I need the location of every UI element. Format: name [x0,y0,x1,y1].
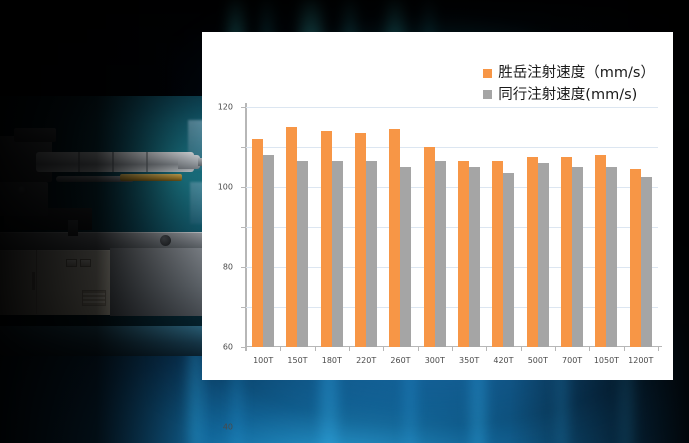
x-axis-label: 220T [356,356,376,365]
bar-series-1[interactable] [469,167,480,347]
x-axis-tick [658,347,659,351]
rail-support [68,220,78,236]
y-axis-label: 100 [218,183,233,192]
legend-swatch-icon-1 [483,90,492,99]
x-axis-tick [555,347,556,351]
bar-group: 260T [383,107,417,347]
x-axis-label: 420T [493,356,513,365]
x-axis-tick [452,347,453,351]
chart-panel: 胜岳注射速度（mm/s） 同行注射速度(mm/s) 02040608010012… [202,32,673,380]
bar-series-1[interactable] [297,161,308,347]
x-axis-label: 1200T [628,356,653,365]
motor-port [18,186,27,195]
bar-series-1[interactable] [435,161,446,347]
bar-group: 220T [349,107,383,347]
bar-series-0[interactable] [595,155,606,347]
x-axis-label: 180T [322,356,342,365]
bar-group: 1050T [589,107,623,347]
bar-series-0[interactable] [252,139,263,347]
bar-series-1[interactable] [572,167,583,347]
bar-series-0[interactable] [321,131,332,347]
x-axis-tick [246,347,247,351]
guard-knob [160,235,171,246]
y-axis-label: 80 [223,263,233,272]
bar-series-0[interactable] [355,133,366,347]
barrel-band [112,152,114,172]
legend-item-0[interactable]: 胜岳注射速度（mm/s） [483,66,655,81]
x-axis-tick [315,347,316,351]
y-axis-label: 40 [223,423,233,432]
legend-label-0: 胜岳注射速度（mm/s） [498,66,655,81]
bar-series-0[interactable] [527,157,538,347]
x-axis-tick [486,347,487,351]
bar-series-1[interactable] [606,167,617,347]
bar-group: 420T [486,107,520,347]
slide-canvas: 胜岳注射速度（mm/s） 同行注射速度(mm/s) 02040608010012… [0,0,689,443]
injection-barrel [36,152,194,172]
bar-groups: 100T150T180T220T260T300T350T420T500T700T… [246,107,658,347]
x-axis-tick [280,347,281,351]
floor [0,326,212,356]
x-axis-tick [418,347,419,351]
x-axis-label: 350T [459,356,479,365]
bar-group: 500T [521,107,555,347]
plot-area: 020406080100120 100T150T180T220T260T300T… [246,107,658,347]
x-axis-tick [383,347,384,351]
legend-item-1[interactable]: 同行注射速度(mm/s) [483,88,637,103]
bar-group: 180T [315,107,349,347]
legend-swatch-icon-0 [483,69,492,78]
injection-nozzle [178,155,200,169]
x-axis-label: 150T [287,356,307,365]
cabinet-door-seam [36,250,37,314]
x-axis-label: 700T [562,356,582,365]
x-axis-label: 500T [528,356,548,365]
x-axis-tick [589,347,590,351]
barrel-band [146,152,148,172]
bar-group: 150T [280,107,314,347]
x-axis-tick [521,347,522,351]
x-axis-label: 260T [390,356,410,365]
x-axis-label: 300T [425,356,445,365]
barrel-band [78,152,80,172]
bar-series-0[interactable] [286,127,297,347]
bar-group: 300T [418,107,452,347]
x-axis-label: 100T [253,356,273,365]
bar-series-0[interactable] [492,161,503,347]
bar-group: 700T [555,107,589,347]
bar-series-1[interactable] [332,161,343,347]
y-axis-label: 60 [223,343,233,352]
cabinet-button [80,259,91,267]
bar-group: 1200T [624,107,658,347]
x-axis-tick [624,347,625,351]
bar-series-1[interactable] [503,173,514,347]
bar-series-1[interactable] [538,163,549,347]
injection-molding-machine-photo [0,96,212,356]
chart-legend: 胜岳注射速度（mm/s） 同行注射速度(mm/s) [483,66,655,102]
bar-group: 100T [246,107,280,347]
safety-guard-cover [110,248,212,316]
bar-series-1[interactable] [641,177,652,347]
motor-cover [14,128,56,142]
x-axis-label: 1050T [594,356,619,365]
bar-series-0[interactable] [458,161,469,347]
bar-group: 350T [452,107,486,347]
bar-series-0[interactable] [389,129,400,347]
bar-series-0[interactable] [630,169,641,347]
bar-series-1[interactable] [366,161,377,347]
legend-label-1: 同行注射速度(mm/s) [498,88,637,103]
cabinet-handle [32,272,35,290]
cabinet-button [66,259,77,267]
brass-heater-sleeve [120,174,182,181]
x-axis-tick [349,347,350,351]
bar-series-0[interactable] [561,157,572,347]
bar-series-0[interactable] [424,147,435,347]
bar-series-1[interactable] [263,155,274,347]
cabinet-vent [82,290,106,306]
y-axis-label: 120 [218,103,233,112]
bar-series-1[interactable] [400,167,411,347]
